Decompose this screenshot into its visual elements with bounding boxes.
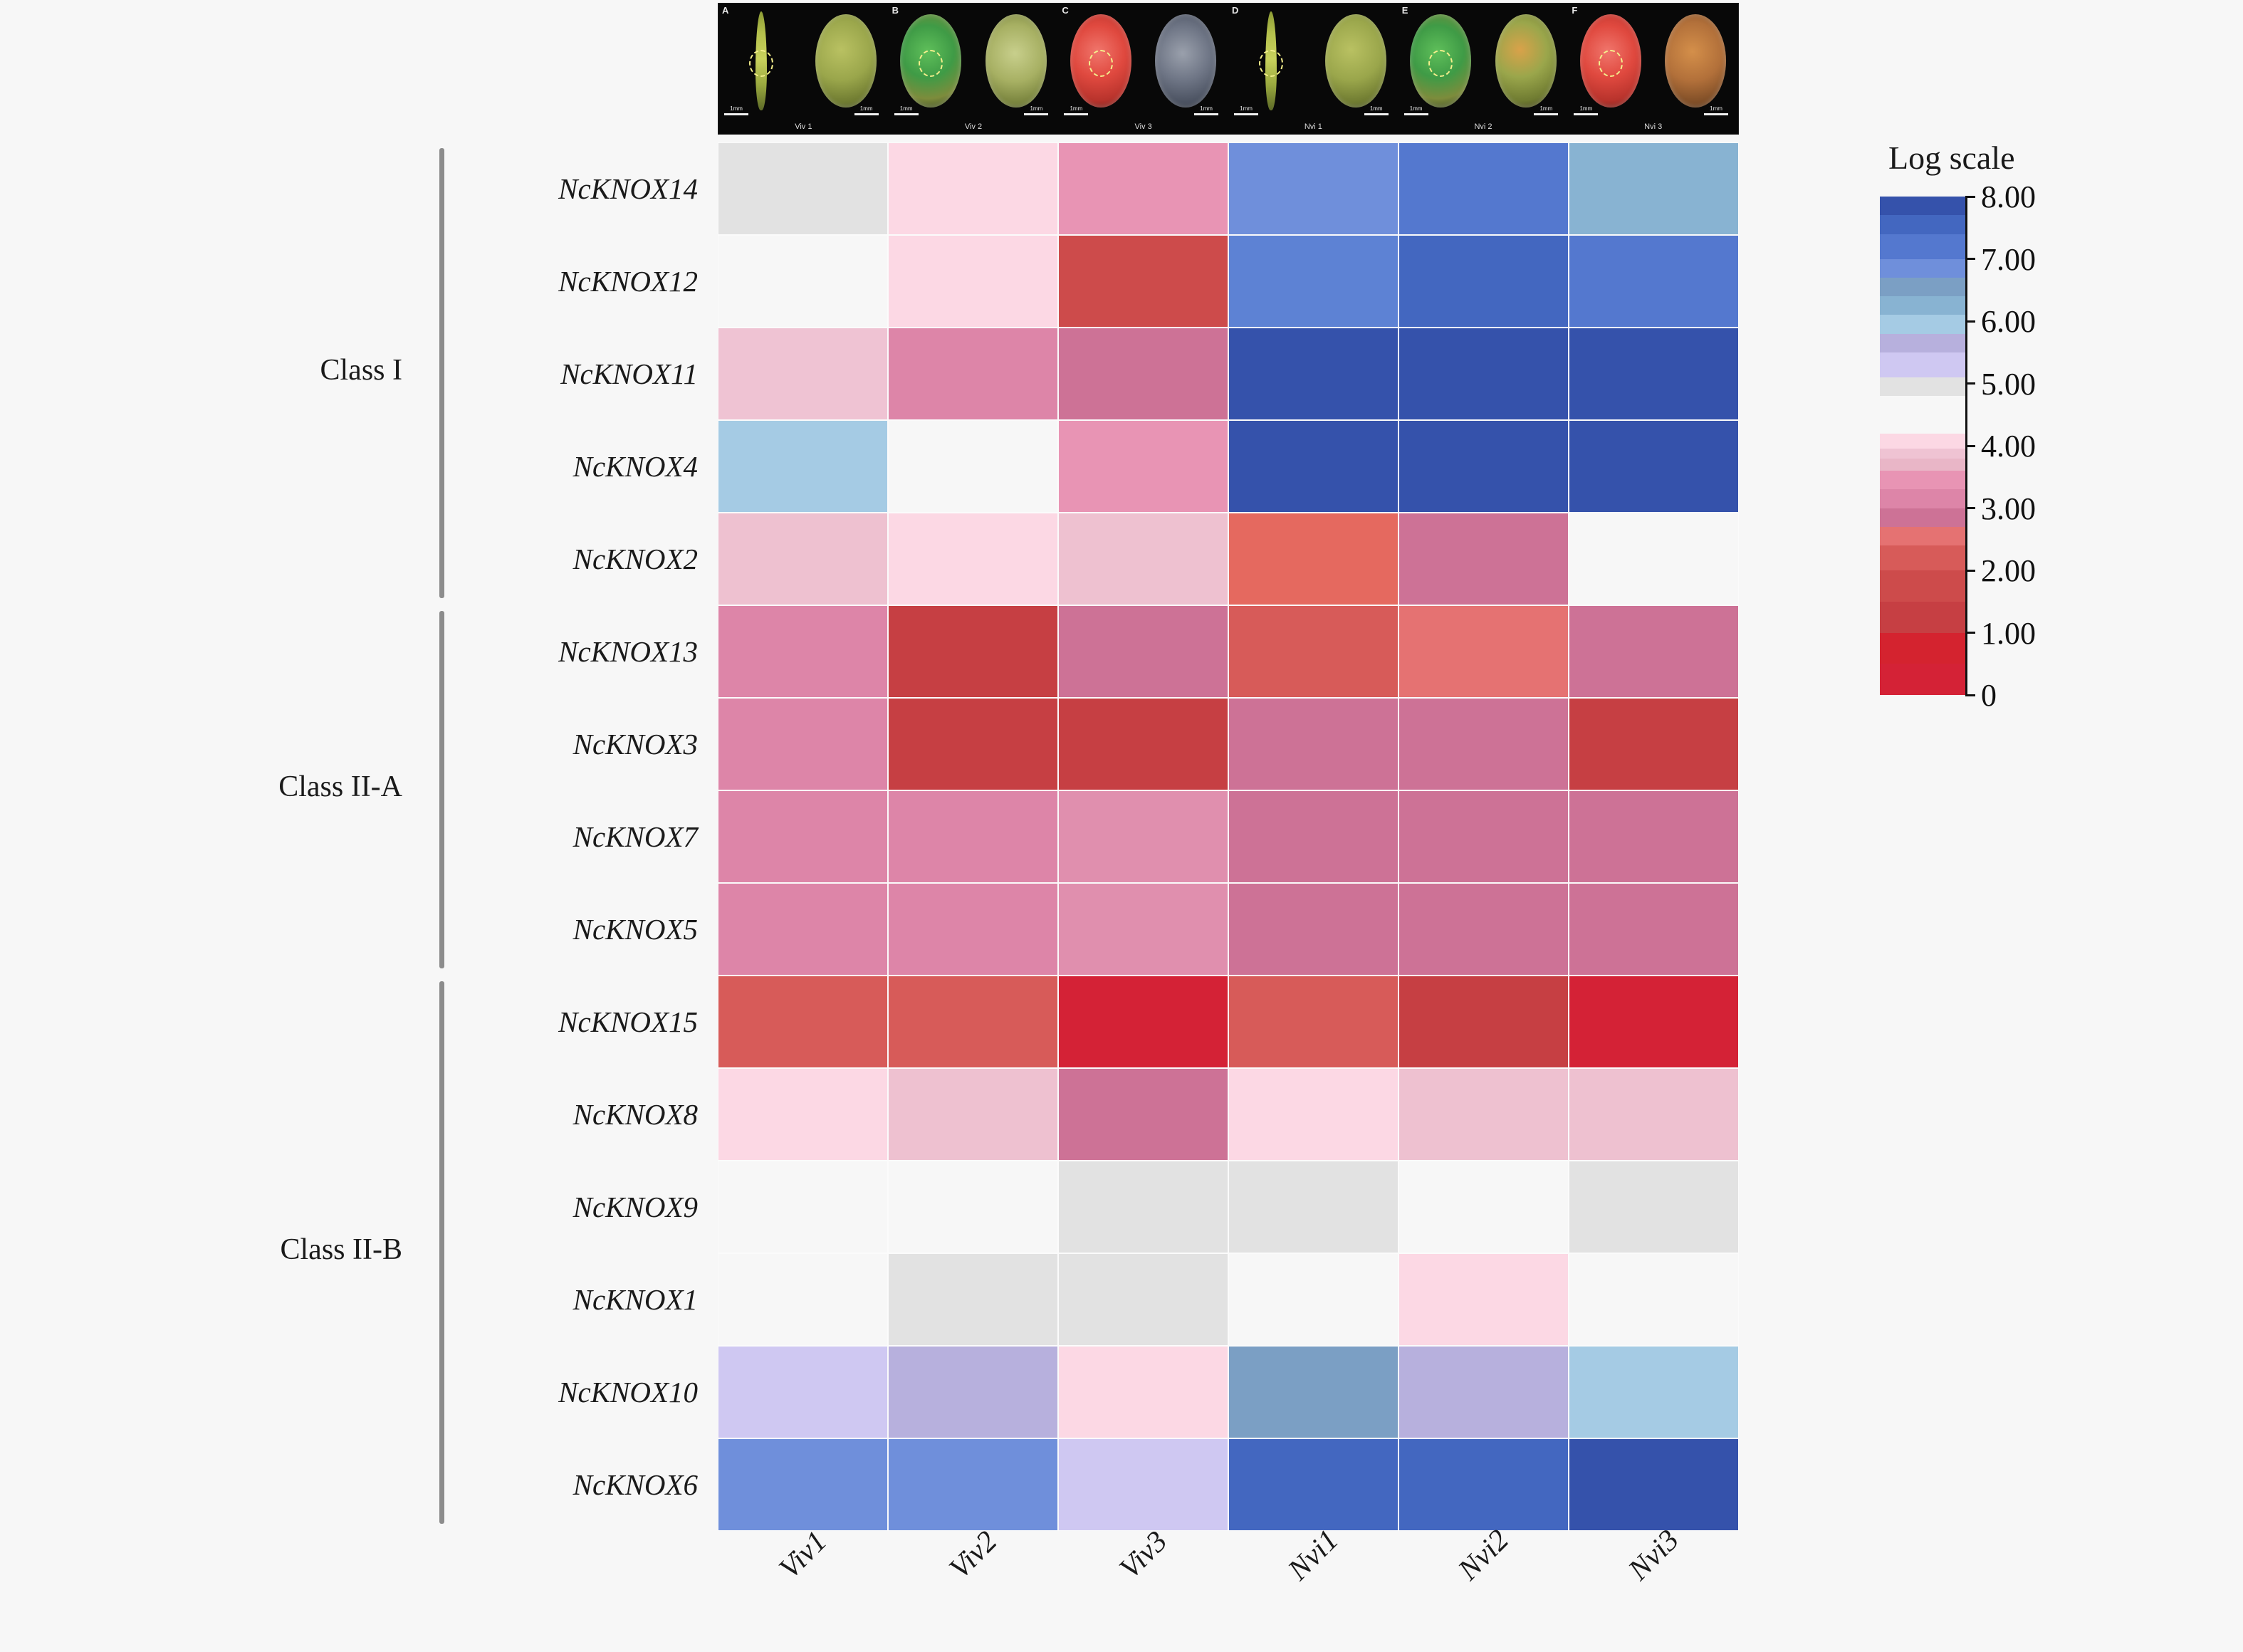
heatmap-cell[interactable] [1228, 1068, 1398, 1161]
column-label-text: Nvi2 [1452, 1523, 1516, 1587]
meristem-image-icon [1495, 14, 1557, 108]
heatmap-row [718, 976, 1739, 1068]
meristem-image-icon [985, 14, 1047, 108]
legend-tick-mark [1965, 445, 1975, 447]
photo-group-viv3: C 1mm 1mm Viv 3 [1058, 4, 1228, 134]
heatmap-row [718, 1253, 1739, 1346]
legend-tick-mark [1965, 632, 1975, 634]
heatmap-cell[interactable] [1569, 698, 1739, 790]
legend-band [1880, 396, 1965, 434]
meristem-marker-icon [919, 50, 943, 77]
heatmap-cell[interactable] [888, 1253, 1058, 1346]
heatmap-cell[interactable] [1228, 1438, 1398, 1531]
row-label-ncknox5: NcKNOX5 [427, 883, 712, 976]
heatmap-cell[interactable] [1569, 513, 1739, 605]
heatmap-cell[interactable] [1228, 605, 1398, 698]
legend-tick-labels: 8.007.006.005.004.003.002.001.000 [1965, 197, 2086, 695]
column-label-text: Viv3 [1113, 1525, 1174, 1586]
panel-letter-a: A [722, 5, 728, 16]
legend-band [1880, 471, 1965, 489]
panel-letter-c: C [1062, 5, 1068, 16]
column-label-viv3: Viv3 [1059, 1538, 1229, 1572]
heatmap-cell[interactable] [1228, 1346, 1398, 1438]
meristem-marker-icon [1259, 50, 1283, 77]
row-label-ncknox10: NcKNOX10 [427, 1346, 712, 1438]
column-label-text: Nvi3 [1622, 1523, 1686, 1587]
photo-caption-nvi2: Nvi 2 [1398, 122, 1569, 131]
photo-caption-viv1: Viv 1 [718, 122, 889, 131]
legend-tick-mark [1965, 570, 1975, 572]
heatmap-cell[interactable] [888, 1346, 1058, 1438]
row-label-ncknox7: NcKNOX7 [427, 790, 712, 883]
heatmap-cell[interactable] [1398, 142, 1569, 235]
heatmap-cell[interactable] [888, 142, 1058, 235]
scale-bar-d-left: 1mm [1234, 106, 1258, 115]
heatmap-cell[interactable] [1228, 698, 1398, 790]
heatmap-cell[interactable] [1058, 1253, 1228, 1346]
heatmap-cell[interactable] [1058, 976, 1228, 1068]
photo-group-nvi1: D 1mm 1mm Nvi 1 [1228, 4, 1398, 134]
photo-group-viv2: B 1mm 1mm Viv 2 [889, 4, 1059, 134]
heatmap-cell[interactable] [1228, 420, 1398, 513]
heatmap-cell[interactable] [1058, 1068, 1228, 1161]
legend-band [1880, 602, 1965, 633]
heatmap-cell[interactable] [888, 883, 1058, 976]
legend-band [1880, 296, 1965, 315]
scale-bar-f-right: 1mm [1704, 106, 1728, 115]
heatmap-cell[interactable] [1228, 1161, 1398, 1253]
heatmap-cell[interactable] [888, 1161, 1058, 1253]
heatmap-cell[interactable] [888, 420, 1058, 513]
row-label-ncknox14: NcKNOX14 [427, 142, 712, 235]
heatmap-cell[interactable] [1228, 513, 1398, 605]
heatmap-cell[interactable] [718, 1068, 888, 1161]
meristem-marker-icon [1599, 50, 1623, 77]
heatmap-cell[interactable] [1228, 142, 1398, 235]
heatmap-cell[interactable] [1058, 605, 1228, 698]
heatmap-cell[interactable] [1569, 605, 1739, 698]
heatmap-cell[interactable] [1569, 235, 1739, 328]
heatmap-cell[interactable] [1398, 1068, 1569, 1161]
heatmap-cell[interactable] [888, 976, 1058, 1068]
legend-band [1880, 449, 1965, 458]
scale-bar-c-left: 1mm [1064, 106, 1088, 115]
row-label-ncknox3: NcKNOX3 [427, 698, 712, 790]
row-label-ncknox8: NcKNOX8 [427, 1068, 712, 1161]
heatmap-cell[interactable] [888, 790, 1058, 883]
row-label-column: NcKNOX14NcKNOX12NcKNOX11NcKNOX4NcKNOX2Nc… [427, 142, 712, 1531]
legend-band [1880, 527, 1965, 545]
photo-group-nvi3: F 1mm 1mm Nvi 3 [1568, 4, 1738, 134]
class-label-2: Class II-A [278, 770, 402, 804]
heatmap-cell[interactable] [888, 605, 1058, 698]
legend-band [1880, 377, 1965, 396]
heatmap-row [718, 883, 1739, 976]
heatmap-cell[interactable] [1569, 1161, 1739, 1253]
heatmap-cell[interactable] [1569, 328, 1739, 420]
heatmap-row [718, 1438, 1739, 1531]
heatmap-cell[interactable] [718, 1438, 888, 1531]
row-label-ncknox13: NcKNOX13 [427, 605, 712, 698]
scale-bar-f-left: 1mm [1574, 106, 1598, 115]
row-label-ncknox6: NcKNOX6 [427, 1438, 712, 1531]
scale-bar-d-right: 1mm [1364, 106, 1389, 115]
heatmap-cell[interactable] [718, 1161, 888, 1253]
scale-bar-c-right: 1mm [1194, 106, 1218, 115]
heatmap-cell[interactable] [1569, 1253, 1739, 1346]
row-label-ncknox11: NcKNOX11 [427, 328, 712, 420]
photo-shoot-apex-b: B 1mm [889, 4, 973, 134]
legend-tick-mark [1965, 694, 1975, 696]
heatmap-cell[interactable] [718, 235, 888, 328]
meristem-marker-icon [749, 50, 773, 77]
heatmap-cell[interactable] [718, 698, 888, 790]
column-label-text: Nvi1 [1282, 1523, 1346, 1587]
legend-band [1880, 459, 1965, 471]
meristem-image-icon [1325, 14, 1386, 108]
heatmap-cell[interactable] [1398, 790, 1569, 883]
heatmap-cell[interactable] [1058, 235, 1228, 328]
photo-meristem-b: 1mm [973, 4, 1058, 134]
meristem-image-icon [815, 14, 877, 108]
meristem-marker-icon [1089, 50, 1113, 77]
heatmap-cell[interactable] [1398, 1161, 1569, 1253]
legend-tick-mark [1965, 258, 1975, 260]
photo-shoot-apex-a: A 1mm [718, 4, 803, 134]
heatmap-row [718, 328, 1739, 420]
legend-band [1880, 570, 1965, 602]
heatmap-cell[interactable] [1398, 513, 1569, 605]
heatmap-row [718, 420, 1739, 513]
heatmap-cell[interactable] [1058, 1161, 1228, 1253]
heatmap-cell[interactable] [718, 976, 888, 1068]
heatmap-cell[interactable] [718, 605, 888, 698]
legend-band [1880, 215, 1965, 234]
photo-caption-nvi1: Nvi 1 [1228, 122, 1398, 131]
scale-bar-e-left: 1mm [1404, 106, 1428, 115]
legend-color-bar [1880, 197, 1965, 695]
scale-bar-b-left: 1mm [894, 106, 919, 115]
heatmap-grid [718, 142, 1739, 1531]
column-label-text: Viv1 [773, 1525, 834, 1586]
scale-bar-a-left: 1mm [724, 106, 748, 115]
heatmap-cell[interactable] [1058, 883, 1228, 976]
heatmap-cell[interactable] [1569, 142, 1739, 235]
column-label-row: Viv1Viv2Viv3Nvi1Nvi2Nvi3 [718, 1538, 1739, 1652]
heatmap-cell[interactable] [1569, 1068, 1739, 1161]
scale-bar-a-right: 1mm [854, 106, 879, 115]
class-label-1: Class I [320, 353, 403, 387]
legend-title: Log scale [1888, 139, 2086, 177]
legend-band [1880, 434, 1965, 449]
heatmap-cell[interactable] [1398, 1438, 1569, 1531]
legend-band [1880, 278, 1965, 296]
legend-band [1880, 352, 1965, 377]
row-label-ncknox15: NcKNOX15 [427, 976, 712, 1068]
heatmap-row [718, 605, 1739, 698]
heatmap-cell[interactable] [888, 513, 1058, 605]
legend-tick-mark [1965, 507, 1975, 509]
heatmap-row [718, 698, 1739, 790]
photo-shoot-apex-d: D 1mm [1228, 4, 1313, 134]
heatmap-cell[interactable] [888, 1438, 1058, 1531]
legend-band [1880, 234, 1965, 259]
heatmap-cell[interactable] [1058, 1346, 1228, 1438]
heatmap-cell[interactable] [1569, 420, 1739, 513]
row-label-ncknox1: NcKNOX1 [427, 1253, 712, 1346]
heatmap-cell[interactable] [1398, 883, 1569, 976]
legend-body: 8.007.006.005.004.003.002.001.000 [1880, 197, 2086, 695]
column-label-text: Viv2 [943, 1525, 1004, 1586]
heatmap-row [718, 1068, 1739, 1161]
column-label-nvi1: Nvi1 [1229, 1538, 1399, 1572]
panel-letter-e: E [1402, 5, 1408, 16]
photo-shoot-apex-c: C 1mm [1058, 4, 1143, 134]
column-label-nvi2: Nvi2 [1399, 1538, 1569, 1572]
panel-letter-d: D [1232, 5, 1238, 16]
heatmap-cell[interactable] [1569, 1346, 1739, 1438]
panel-letter-b: B [892, 5, 899, 16]
column-label-viv2: Viv2 [889, 1538, 1059, 1572]
legend-tick-mark [1965, 196, 1975, 198]
photo-meristem-c: 1mm [1144, 4, 1228, 134]
heatmap-cell[interactable] [1228, 883, 1398, 976]
heatmap-cell[interactable] [888, 698, 1058, 790]
heatmap-cell[interactable] [718, 1346, 888, 1438]
heatmap-cell[interactable] [718, 790, 888, 883]
heatmap-cell[interactable] [1398, 420, 1569, 513]
photo-group-nvi2: E 1mm 1mm Nvi 2 [1398, 4, 1569, 134]
heatmap-cell[interactable] [1058, 142, 1228, 235]
scale-bar-b-right: 1mm [1024, 106, 1048, 115]
column-label-viv1: Viv1 [718, 1538, 889, 1572]
meristem-photo-strip: A 1mm 1mm Viv 1 B 1mm 1mm [718, 3, 1739, 135]
heatmap-cell[interactable] [718, 142, 888, 235]
heatmap-cell[interactable] [1228, 235, 1398, 328]
panel-letter-f: F [1572, 5, 1577, 16]
heatmap-cell[interactable] [1228, 976, 1398, 1068]
heatmap-row [718, 1346, 1739, 1438]
heatmap-cell[interactable] [1398, 235, 1569, 328]
row-label-ncknox12: NcKNOX12 [427, 235, 712, 328]
heatmap-cell[interactable] [718, 420, 888, 513]
heatmap-cell[interactable] [1569, 1438, 1739, 1531]
class-label-3: Class II-B [281, 1233, 403, 1267]
column-label-nvi3: Nvi3 [1569, 1538, 1740, 1572]
legend-band [1880, 334, 1965, 352]
row-label-ncknox2: NcKNOX2 [427, 513, 712, 605]
heatmap-cell[interactable] [1228, 1253, 1398, 1346]
legend-band [1880, 508, 1965, 527]
heatmap-cell[interactable] [718, 1253, 888, 1346]
heatmap-cell[interactable] [1398, 1253, 1569, 1346]
heatmap-cell[interactable] [1058, 420, 1228, 513]
photo-caption-viv3: Viv 3 [1058, 122, 1228, 131]
heatmap-cell[interactable] [1569, 883, 1739, 976]
heatmap-cell[interactable] [1398, 1346, 1569, 1438]
photo-meristem-f: 1mm [1653, 4, 1738, 134]
photo-shoot-apex-f: F 1mm [1568, 4, 1653, 134]
heatmap-cell[interactable] [718, 513, 888, 605]
legend-band [1880, 545, 1965, 570]
legend-tick-mark [1965, 320, 1975, 323]
heatmap-cell[interactable] [718, 883, 888, 976]
photo-group-viv1: A 1mm 1mm Viv 1 [718, 4, 889, 134]
heatmap-row [718, 1161, 1739, 1253]
heatmap-cell[interactable] [1058, 1438, 1228, 1531]
heatmap-cell[interactable] [1398, 698, 1569, 790]
heatmap-row [718, 513, 1739, 605]
heatmap-cell[interactable] [888, 328, 1058, 420]
heatmap-cell[interactable] [718, 328, 888, 420]
photo-meristem-a: 1mm [803, 4, 888, 134]
meristem-image-icon [1665, 14, 1726, 108]
legend-band [1880, 664, 1965, 695]
heatmap-row [718, 142, 1739, 235]
row-label-ncknox4: NcKNOX4 [427, 420, 712, 513]
row-label-ncknox9: NcKNOX9 [427, 1161, 712, 1253]
photo-meristem-e: 1mm [1483, 4, 1568, 134]
colorbar-legend: Log scale 8.007.006.005.004.003.002.001.… [1880, 139, 2086, 695]
meristem-image-icon [1155, 14, 1216, 108]
heatmap-cell[interactable] [1058, 790, 1228, 883]
heatmap-cell[interactable] [1058, 513, 1228, 605]
heatmap-cell[interactable] [888, 1068, 1058, 1161]
heatmap-cell[interactable] [1569, 976, 1739, 1068]
scale-bar-e-right: 1mm [1534, 106, 1558, 115]
heatmap-row [718, 235, 1739, 328]
legend-band [1880, 197, 1965, 215]
heatmap-cell[interactable] [888, 235, 1058, 328]
heatmap-cell[interactable] [1058, 328, 1228, 420]
heatmap-cell[interactable] [1058, 698, 1228, 790]
heatmap-cell[interactable] [1398, 605, 1569, 698]
legend-band [1880, 633, 1965, 664]
heatmap-row [718, 790, 1739, 883]
heatmap-cell[interactable] [1398, 328, 1569, 420]
legend-band [1880, 315, 1965, 333]
photo-meristem-d: 1mm [1313, 4, 1398, 134]
legend-tick-mark [1965, 382, 1975, 385]
heatmap-cell[interactable] [1228, 790, 1398, 883]
meristem-marker-icon [1428, 50, 1453, 77]
heatmap-cell[interactable] [1228, 328, 1398, 420]
photo-caption-viv2: Viv 2 [889, 122, 1059, 131]
heatmap-cell[interactable] [1569, 790, 1739, 883]
legend-band [1880, 259, 1965, 278]
heatmap-cell[interactable] [1398, 976, 1569, 1068]
legend-band [1880, 489, 1965, 508]
photo-shoot-apex-e: E 1mm [1398, 4, 1483, 134]
photo-caption-nvi3: Nvi 3 [1568, 122, 1738, 131]
